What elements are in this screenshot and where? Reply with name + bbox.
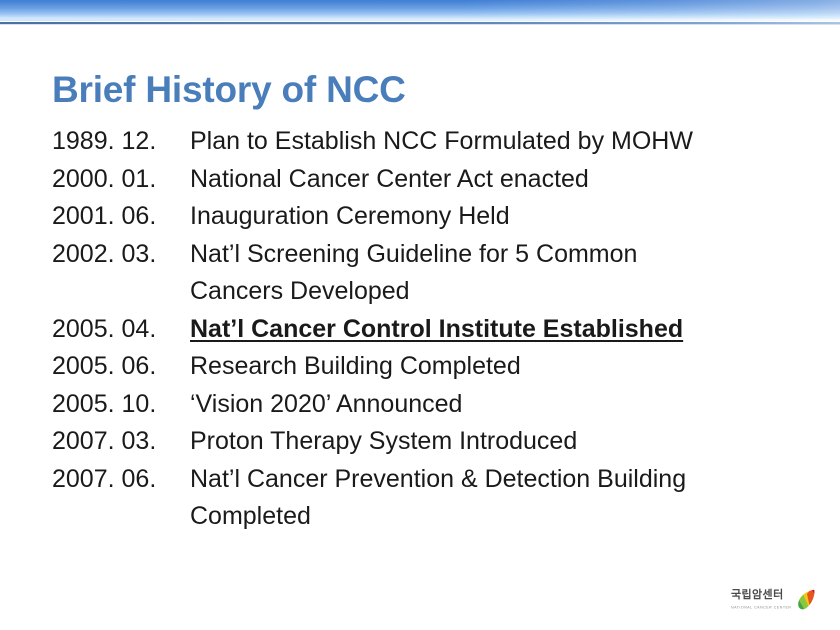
logo-korean-name: 국립암센터 bbox=[731, 589, 793, 602]
history-row-text: National Cancer Center Act enacted bbox=[190, 162, 589, 196]
history-row-text: Completed bbox=[190, 499, 311, 533]
history-row-continuation: Completed bbox=[0, 499, 840, 537]
history-row-date: 2002. 03. bbox=[52, 237, 182, 271]
banner-gradient-band bbox=[0, 0, 840, 19]
history-row: 2000. 01. National Cancer Center Act ena… bbox=[0, 162, 840, 200]
history-row-date: 2005. 06. bbox=[52, 349, 182, 383]
history-row-date: 2005. 04. bbox=[52, 312, 182, 346]
history-row-text: ‘Vision 2020’ Announced bbox=[190, 387, 462, 421]
history-row-text: Nat’l Cancer Prevention & Detection Buil… bbox=[190, 462, 686, 496]
history-row-date: 1989. 12. bbox=[52, 124, 182, 158]
history-row-date: 2001. 06. bbox=[52, 199, 182, 233]
history-row: 2007. 03. Proton Therapy System Introduc… bbox=[0, 424, 840, 462]
history-row-highlighted: 2005. 04. Nat’l Cancer Control Institute… bbox=[0, 312, 840, 350]
history-row: 1989. 12. Plan to Establish NCC Formulat… bbox=[0, 124, 840, 162]
slide-canvas: Brief History of NCC 1989. 12. Plan to E… bbox=[0, 0, 840, 630]
banner-divider-shadow bbox=[0, 24, 840, 25]
history-row-date: 2005. 10. bbox=[52, 387, 182, 421]
history-row-text: Nat’l Screening Guideline for 5 Common bbox=[190, 237, 637, 271]
history-row-date: 2000. 01. bbox=[52, 162, 182, 196]
history-row: 2002. 03. Nat’l Screening Guideline for … bbox=[0, 237, 840, 275]
history-row: 2007. 06. Nat’l Cancer Prevention & Dete… bbox=[0, 462, 840, 500]
history-row-text: Research Building Completed bbox=[190, 349, 521, 383]
slide-title: Brief History of NCC bbox=[52, 69, 406, 111]
history-row: 2005. 06. Research Building Completed bbox=[0, 349, 840, 387]
logo-english-name: NATIONAL CANCER CENTER bbox=[731, 604, 793, 611]
history-row: 2001. 06. Inauguration Ceremony Held bbox=[0, 199, 840, 237]
logo-leaf-icon bbox=[795, 588, 817, 612]
history-row-text: Plan to Establish NCC Formulated by MOHW bbox=[190, 124, 693, 158]
history-list: 1989. 12. Plan to Establish NCC Formulat… bbox=[0, 124, 840, 537]
history-row-text: Proton Therapy System Introduced bbox=[190, 424, 577, 458]
history-row-date: 2007. 06. bbox=[52, 462, 182, 496]
history-row-continuation: Cancers Developed bbox=[0, 274, 840, 312]
history-row-text: Inauguration Ceremony Held bbox=[190, 199, 510, 233]
top-banner bbox=[0, 0, 840, 25]
history-row-text: Nat’l Cancer Control Institute Establish… bbox=[190, 312, 683, 346]
history-row-date: 2007. 03. bbox=[52, 424, 182, 458]
logo-wordmark: 국립암센터 NATIONAL CANCER CENTER bbox=[731, 589, 793, 610]
history-row: 2005. 10. ‘Vision 2020’ Announced bbox=[0, 387, 840, 425]
history-row-text: Cancers Developed bbox=[190, 274, 410, 308]
ncc-logo: 국립암센터 NATIONAL CANCER CENTER bbox=[731, 588, 831, 618]
